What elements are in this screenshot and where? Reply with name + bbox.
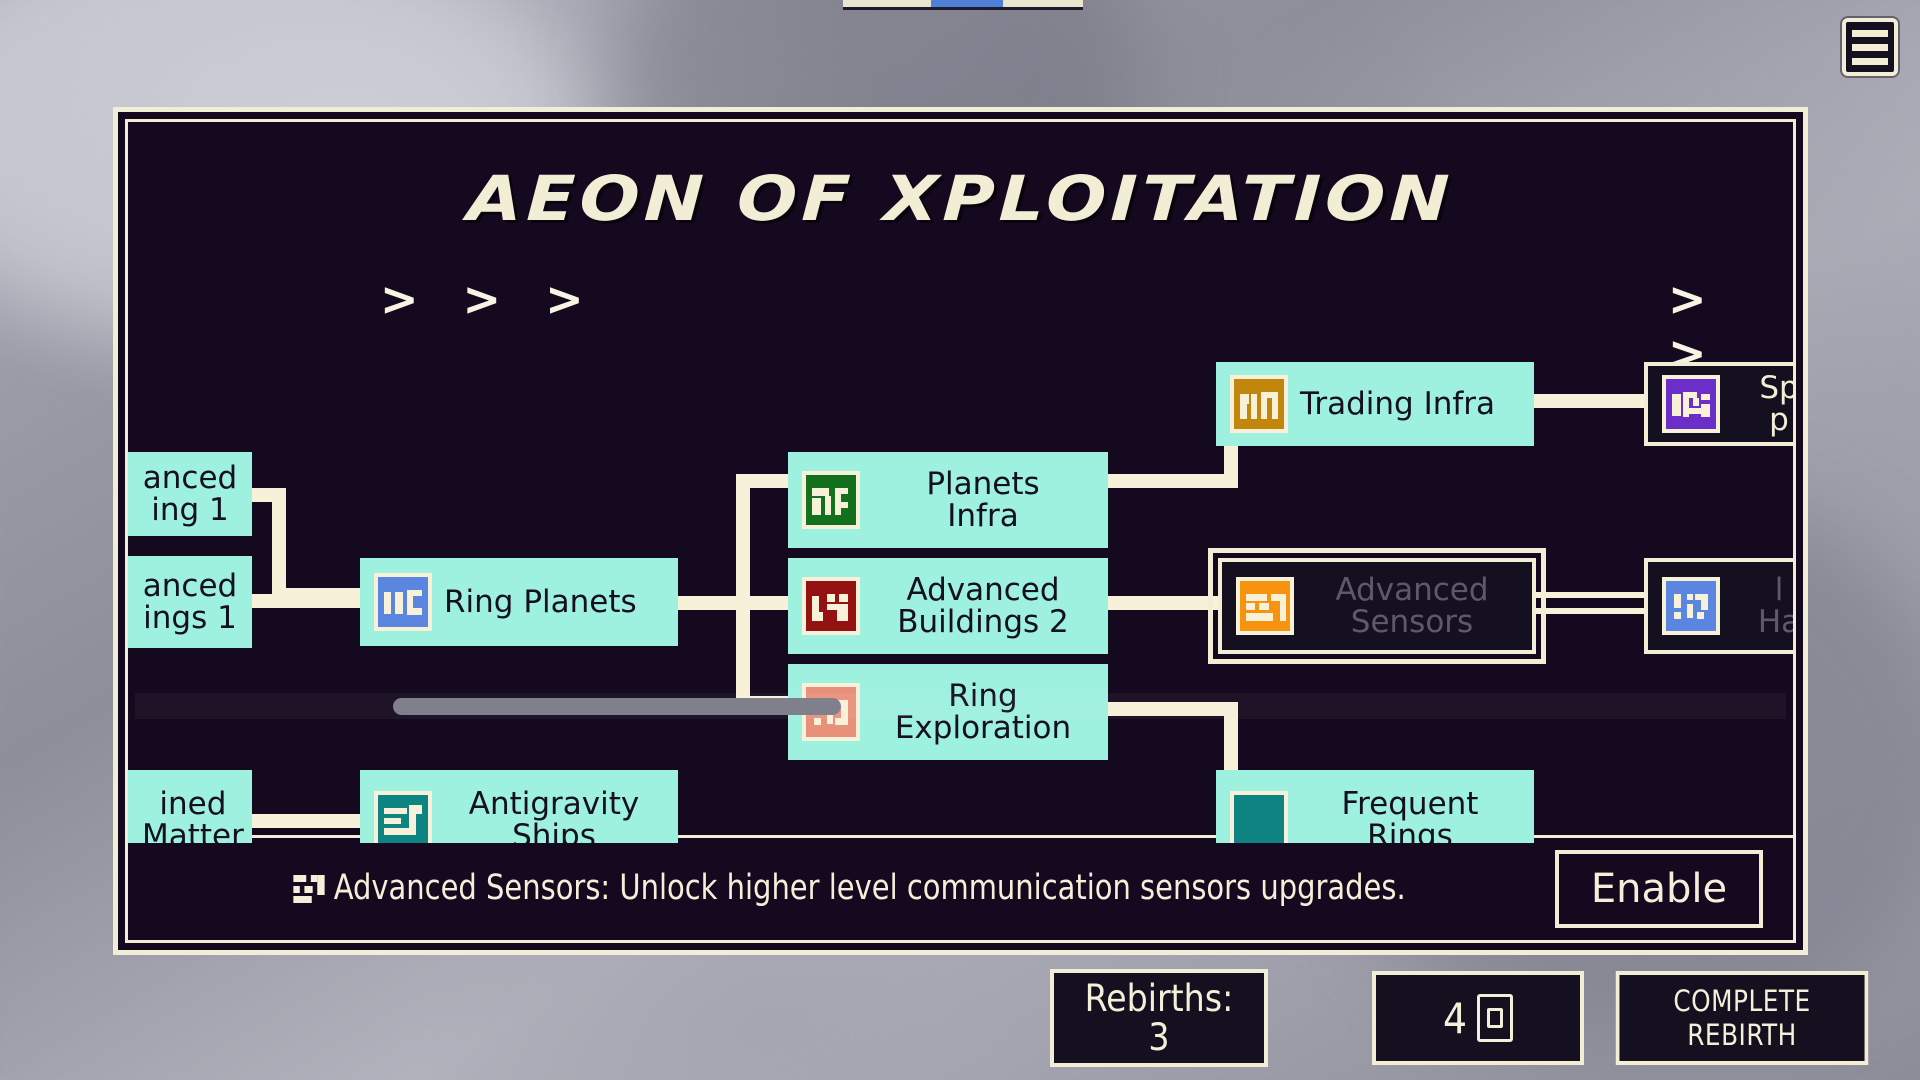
frequent-rings-icon [1230,791,1288,846]
sensors-icon [1236,577,1294,635]
tech-tree-canvas: AEON OF XPLOITATION > > > > > > [128,122,1793,843]
tech-node-label: l Ha [1732,574,1796,638]
tech-node-label: Antigravity Ships [444,788,664,846]
hamburger-menu-icon[interactable] [1842,18,1898,76]
wire [1106,474,1238,488]
wire [1534,608,1648,614]
page-title: AEON OF XPLOITATION [125,162,1796,235]
tech-node-advanced-mining-1[interactable]: anced ing 1 [128,452,252,536]
tech-node-label: Advanced Sensors [1306,574,1518,638]
antigravity-icon [374,791,432,846]
ring-planets-icon [374,573,432,631]
tech-node-ring-planets[interactable]: Ring Planets [360,558,678,646]
wire [1534,394,1648,408]
tech-node-advanced-buildings-1[interactable]: anced ings 1 [128,556,252,648]
rebirth-token-icon [1477,994,1513,1042]
tech-node-frequent-rings[interactable]: Frequent Rings [1216,770,1534,846]
tech-node-advanced-buildings-2[interactable]: Advanced Buildings 2 [788,558,1108,654]
tokens-value: 4 [1443,994,1467,1043]
menu-bar-1 [1852,30,1888,37]
tech-node-label: ined Matter [142,788,244,846]
wire [272,488,286,600]
tech-tree-panel: AEON OF XPLOITATION > > > > > > [113,107,1808,955]
tech-node-label: Planets Infra [872,468,1094,532]
wire [1106,596,1218,610]
tech-node-habitats[interactable]: l Ha [1644,558,1796,654]
tech-node-advanced-sensors[interactable]: Advanced Sensors [1218,558,1536,654]
wire [736,474,750,710]
spaceport-icon [1662,375,1720,433]
tech-node-label: anced ings 1 [142,570,238,634]
buildings-icon [802,577,860,635]
habitat-icon [1662,577,1720,635]
tech-node-label: Trading Infra [1300,388,1520,420]
planets-infra-icon [802,471,860,529]
tech-node-label: Sp p [1732,372,1796,436]
menu-bar-3 [1852,58,1888,65]
tech-node-planets-infra[interactable]: Planets Infra [788,452,1108,548]
wire [252,814,362,828]
tech-tree-viewport[interactable]: AEON OF XPLOITATION > > > > > > [125,119,1796,846]
tech-node-label: Advanced Buildings 2 [872,574,1094,638]
sensors-icon [293,875,324,903]
wire [736,596,790,610]
scrollbar-thumb[interactable] [393,698,841,715]
tech-node-space-port[interactable]: Sp p [1644,362,1796,446]
top-progress-fill [931,0,1003,7]
top-progress-strip [843,0,1083,10]
enable-button[interactable]: Enable [1555,850,1763,928]
tech-node-label: anced ing 1 [142,462,238,526]
horizontal-scrollbar[interactable] [135,693,1786,719]
tech-node-antigravity-ships[interactable]: Antigravity Ships [360,770,678,846]
trading-icon [1230,375,1288,433]
description-text: Advanced Sensors: Unlock higher level co… [334,869,1406,908]
tech-node-label: Frequent Rings [1300,788,1520,846]
wire [736,474,790,488]
description-text-wrapper: Advanced Sensors: Unlock higher level co… [200,869,1498,908]
rebirths-counter: Rebirths: 3 [1050,969,1268,1067]
rebirth-tokens-counter: 4 [1372,971,1584,1065]
tech-node-trading-infra[interactable]: Trading Infra [1216,362,1534,446]
tech-node-label: Ring Planets [444,586,664,618]
wire [1534,592,1648,598]
chevrons-left: > > > [380,272,598,326]
wire [252,594,362,608]
tech-node-refined-matter[interactable]: ined Matter [128,770,252,846]
complete-rebirth-button[interactable]: COMPLETE REBIRTH [1616,971,1869,1065]
description-bar: Advanced Sensors: Unlock higher level co… [125,835,1796,943]
menu-bar-2 [1852,44,1888,51]
